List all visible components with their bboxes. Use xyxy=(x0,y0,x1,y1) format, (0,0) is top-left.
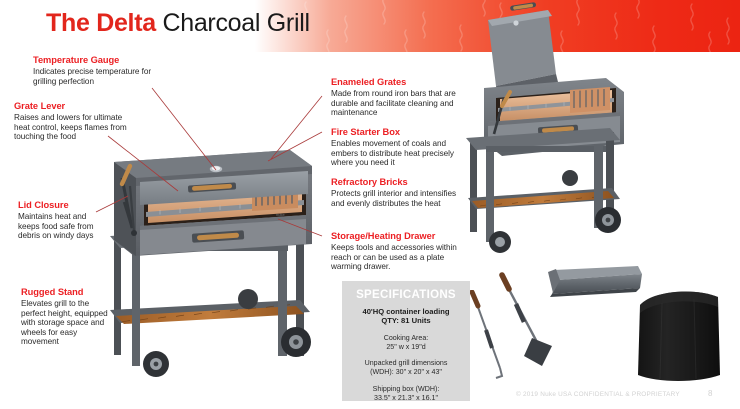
callout-heading: Lid Closure xyxy=(18,200,104,211)
callout-body: Maintains heat and keeps food safe from … xyxy=(18,212,104,241)
temperature-gauge xyxy=(210,166,222,172)
callout-grate-lever: Grate Lever Raises and lowers for ultima… xyxy=(14,101,140,142)
spec-value: 25" w x 19"d xyxy=(342,343,470,352)
wheel-rear xyxy=(281,327,311,357)
callout-rugged-stand: Rugged Stand Elevates grill to the perfe… xyxy=(21,287,113,347)
callout-heading: Grate Lever xyxy=(14,101,140,112)
spec-row-shipping-box: Shipping box (WDH): 33.5" x 21.3" x 16.1… xyxy=(342,385,470,403)
spec-value: 33.5" x 21.3" x 16.1" xyxy=(342,394,470,403)
qty-line: QTY: 81 Units xyxy=(342,316,470,325)
callout-heading: Fire Starter Box xyxy=(331,127,466,138)
callout-body: Keeps tools and accessories within reach… xyxy=(331,243,472,272)
spec-row-cooking-area: Cooking Area: 25" w x 19"d xyxy=(342,334,470,352)
main-grill-illustration: nuke xyxy=(100,140,325,380)
callout-storage-heating-drawer: Storage/Heating Drawer Keeps tools and a… xyxy=(331,231,472,272)
callout-refractory-bricks: Refractory Bricks Protects grill interio… xyxy=(331,177,466,208)
title-product: Charcoal Grill xyxy=(156,9,310,37)
callout-body: Enables movement of coals and embers to … xyxy=(331,139,466,168)
callout-body: Indicates precise temperature for grilli… xyxy=(33,67,168,86)
grill-cover-accessory xyxy=(632,283,726,387)
callout-temperature-gauge: Temperature Gauge Indicates precise temp… xyxy=(33,55,168,86)
callout-body: Made from round iron bars that are durab… xyxy=(331,89,466,118)
callout-heading: Rugged Stand xyxy=(21,287,113,298)
callout-heading: Storage/Heating Drawer xyxy=(331,231,472,242)
container-loading-line: 40'HQ container loading xyxy=(342,307,470,316)
title-brand: The Delta xyxy=(46,9,156,37)
spec-row-unpacked-dimensions: Unpacked grill dimensions (WDH): 30" x 2… xyxy=(342,359,470,377)
svg-text:nuke: nuke xyxy=(276,212,285,217)
callout-heading: Enameled Grates xyxy=(331,77,466,88)
open-lid-grill-illustration xyxy=(448,2,688,274)
callout-heading: Refractory Bricks xyxy=(331,177,466,188)
callout-heading: Temperature Gauge xyxy=(33,55,168,66)
callout-body: Raises and lowers for ultimate heat cont… xyxy=(14,113,140,142)
griddle-tray-accessory xyxy=(546,264,646,300)
page-number: 8 xyxy=(708,389,712,398)
callout-enameled-grates: Enameled Grates Made from round iron bar… xyxy=(331,77,466,118)
spec-label: Shipping box (WDH): xyxy=(342,385,470,394)
spec-label: Cooking Area: xyxy=(342,334,470,343)
footer-copyright: © 2019 Nuke USA CONFIDENTIAL & PROPRIETA… xyxy=(516,391,680,398)
open-lid xyxy=(488,2,558,94)
callout-lid-closure: Lid Closure Maintains heat and keeps foo… xyxy=(18,200,104,241)
spec-value: (WDH): 30" x 20" x 43" xyxy=(342,368,470,377)
callout-body: Protects grill interior and intensifies … xyxy=(331,189,466,208)
page-title: The Delta Charcoal Grill xyxy=(46,9,310,37)
callout-body: Elevates grill to the perfect height, eq… xyxy=(21,299,113,347)
specifications-title: SPECIFICATIONS xyxy=(342,289,470,302)
spec-label: Unpacked grill dimensions xyxy=(342,359,470,368)
ash-rake-tool-accessory xyxy=(494,272,560,377)
wheel-front xyxy=(143,351,169,377)
slide-canvas: The Delta Charcoal Grill xyxy=(0,0,740,409)
callout-fire-starter-box: Fire Starter Box Enables movement of coa… xyxy=(331,127,466,168)
specifications-panel: SPECIFICATIONS 40'HQ container loading Q… xyxy=(342,281,470,401)
